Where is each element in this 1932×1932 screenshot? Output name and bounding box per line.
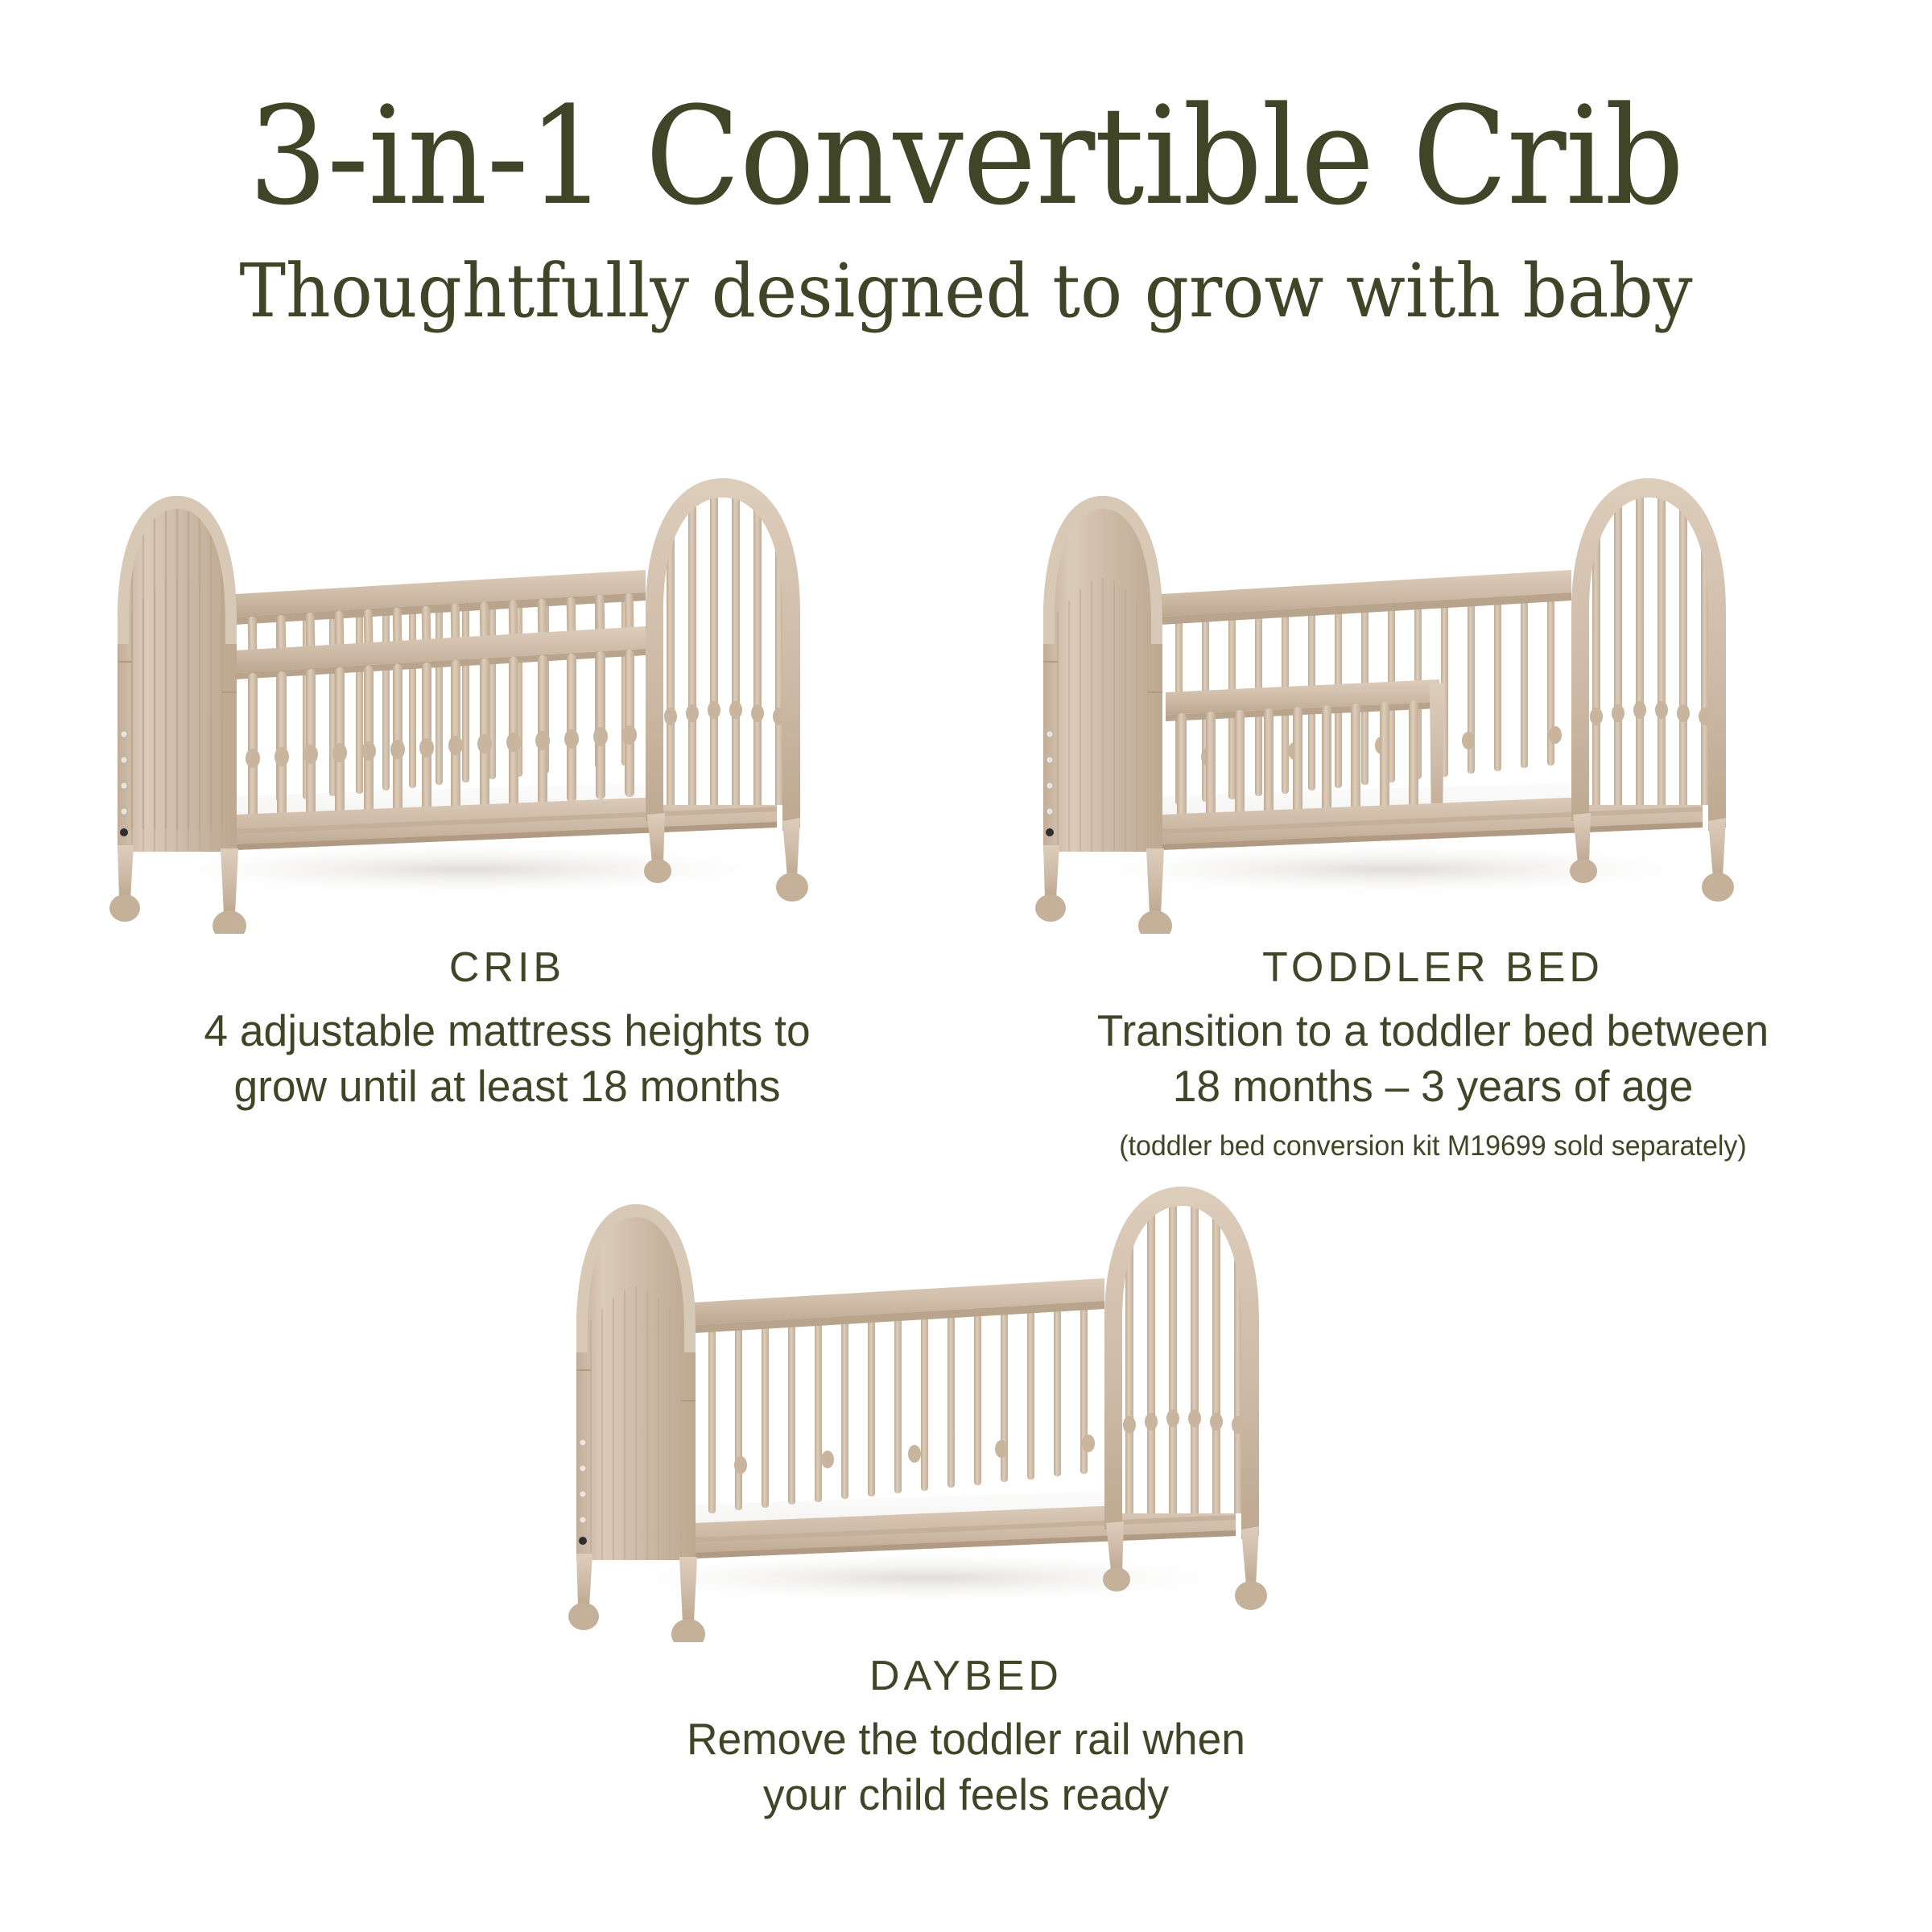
caption-heading: TODDLER BED: [974, 934, 1892, 992]
caption-body: 4 adjustable mattress heights to grow un…: [62, 992, 952, 1115]
infographic-page: 3-in-1 Convertible Crib Thoughtfully des…: [0, 0, 1932, 1932]
toddler-bed-illustration: [974, 451, 1892, 934]
ball-foot: [109, 894, 140, 922]
daybed-figure-svg: [507, 1159, 1425, 1642]
ball-foot: [213, 910, 246, 934]
caption-note: (toddler bed conversion kit M19699 sold …: [988, 1115, 1878, 1165]
right-end-panel: [1570, 467, 1734, 902]
caption-body: Transition to a toddler bed between 18 m…: [988, 992, 1878, 1115]
daybed-illustration: [507, 1159, 1425, 1642]
panel-daybed: DAYBED Remove the toddler rail when your…: [507, 1159, 1425, 1823]
page-title: 3-in-1 Convertible Crib: [77, 0, 1855, 224]
right-end-panel: [644, 467, 808, 902]
toddler-bed-figure-svg: [974, 451, 1892, 934]
caption-line-2: your child feels ready: [763, 1769, 1169, 1819]
ball-foot: [1702, 873, 1734, 902]
caption-line-2: 18 months – 3 years of age: [1173, 1061, 1694, 1111]
caption-crib: CRIB 4 adjustable mattress heights to gr…: [48, 934, 966, 1115]
caption-line-2: grow until at least 18 months: [233, 1061, 780, 1111]
ball-foot: [776, 873, 808, 902]
caption-line-1: Transition to a toddler bed between: [1097, 1005, 1769, 1055]
ball-foot: [568, 1603, 599, 1630]
header: 3-in-1 Convertible Crib Thoughtfully des…: [0, 0, 1932, 328]
caption-line-1: 4 adjustable mattress heights to: [204, 1005, 810, 1055]
ball-foot: [1035, 894, 1066, 922]
caption-body: Remove the toddler rail when your child …: [521, 1700, 1411, 1823]
ball-foot: [671, 1619, 705, 1642]
caption-line-1: Remove the toddler rail when: [687, 1714, 1245, 1764]
caption-daybed: DAYBED Remove the toddler rail when your…: [507, 1642, 1425, 1823]
caption-heading: DAYBED: [507, 1642, 1425, 1700]
panel-toddler: TODDLER BED Transition to a toddler bed …: [974, 451, 1892, 1164]
ball-foot: [1138, 910, 1172, 934]
caption-toddler: TODDLER BED Transition to a toddler bed …: [974, 934, 1892, 1164]
right-end-panel: [1103, 1175, 1267, 1610]
panel-crib: CRIB 4 adjustable mattress heights to gr…: [48, 451, 966, 1115]
crib-illustration: [48, 451, 966, 934]
crib-figure-svg: [48, 451, 966, 934]
caption-heading: CRIB: [48, 934, 966, 992]
ball-foot: [1235, 1581, 1267, 1610]
back-rail-spindles: [694, 1278, 1104, 1513]
page-subtitle: Thoughtfully designed to grow with baby: [58, 224, 1874, 328]
